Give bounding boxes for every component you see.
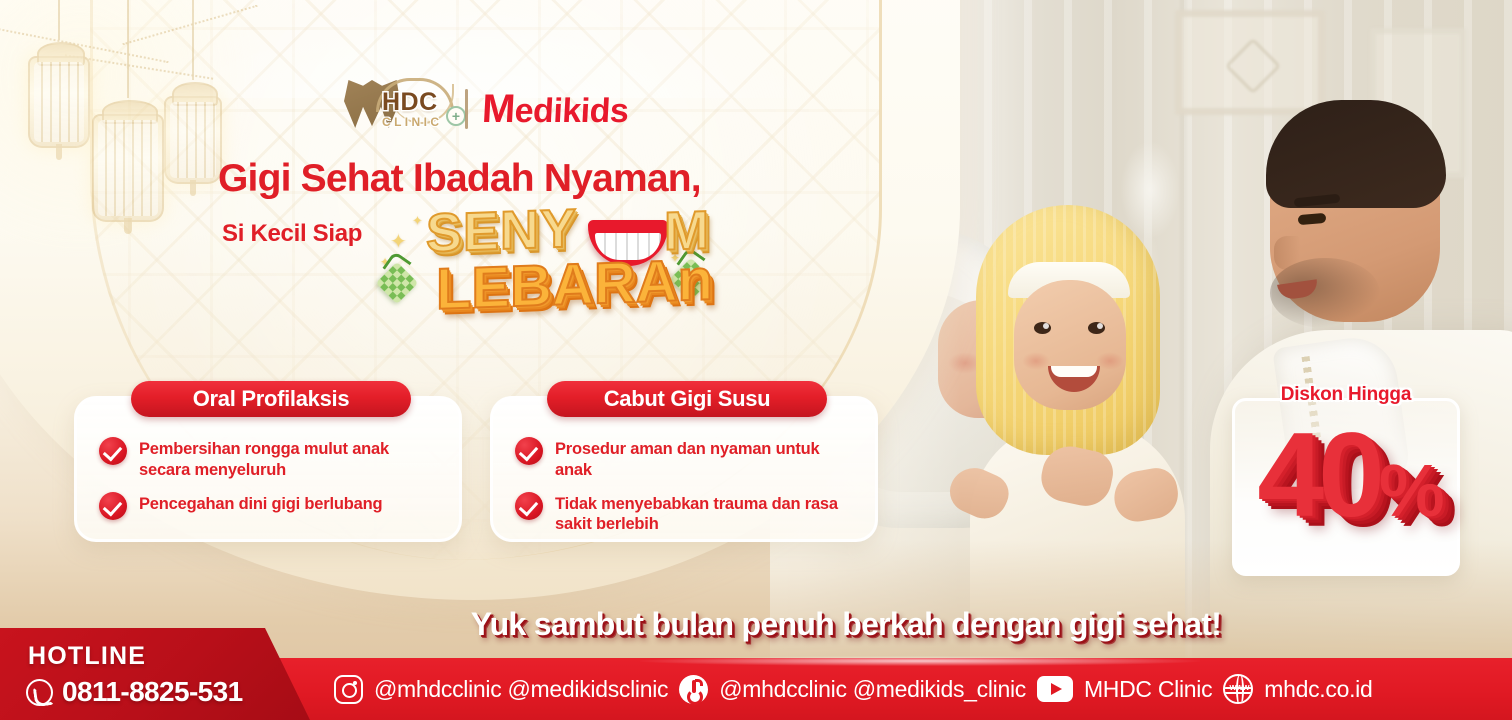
discount-label: Diskon Hingga [1235, 385, 1457, 404]
page-title: Gigi Sehat Ibadah Nyaman, [218, 158, 701, 201]
tiktok-icon[interactable] [679, 675, 708, 704]
lantern-stem [58, 0, 60, 40]
mhdc-clinic-logo: HDC CLINIC + [338, 78, 451, 140]
star-icon: ✦ [390, 232, 407, 252]
globe-icon[interactable]: www [1223, 674, 1253, 704]
girl-cheek-right [1096, 352, 1124, 370]
girl-cheek-left [1022, 352, 1050, 370]
list-item-label: Prosedur aman dan nyaman untuk anak [555, 437, 857, 481]
ketupat-icon [376, 262, 418, 304]
promo-banner: HDC CLINIC + Medikids Gigi Sehat Ibadah … [0, 0, 1512, 720]
check-circle-icon [99, 437, 127, 465]
page-subtitle: Si Kecil Siap [222, 222, 362, 246]
medikids-initial: M [480, 87, 515, 131]
father-nose [1274, 236, 1300, 270]
discount-value: 40% [1217, 415, 1483, 535]
service-card-cabut-gigi-susu: Cabut Gigi Susu Prosedur aman dan nyaman… [490, 396, 878, 542]
mhdc-sub-wordmark: CLINIC [382, 116, 442, 128]
lantern-icon [164, 96, 222, 184]
hotline-number-label: 0811-8825-531 [62, 678, 243, 706]
girl-eye-left [1034, 322, 1051, 334]
globe-www-label: www [1228, 683, 1250, 692]
mhdc-wordmark: HDC [382, 90, 438, 115]
lantern-stem [192, 0, 194, 80]
phone-in-circle-icon [26, 679, 53, 706]
card-title-badge: Cabut Gigi Susu [547, 381, 827, 417]
check-circle-icon [515, 492, 543, 520]
check-circle-icon [515, 437, 543, 465]
list-item: Prosedur aman dan nyaman untuk anak [515, 437, 857, 481]
medical-plus-icon: + [446, 106, 466, 126]
hotline-label: HOTLINE [28, 644, 146, 669]
card-title-badge: Oral Profilaksis [131, 381, 411, 417]
hotline-number[interactable]: 0811-8825-531 [26, 678, 243, 706]
website-url[interactable]: mhdc.co.id [1264, 678, 1372, 701]
lantern-icon [92, 114, 164, 222]
instagram-icon[interactable] [334, 675, 363, 704]
list-item: Tidak menyebabkan trauma dan rasa sakit … [515, 492, 857, 536]
list-item: Pembersihan rongga mulut anak secara men… [99, 437, 441, 481]
hotline-panel: HOTLINE 0811-8825-531 [0, 628, 310, 720]
wall-picture-frame [1175, 10, 1325, 115]
percent-sign: % [1379, 449, 1443, 532]
service-card-oral-profilaksis: Oral Profilaksis Pembersihan rongga mulu… [74, 396, 462, 542]
list-item-label: Tidak menyebabkan trauma dan rasa sakit … [555, 492, 857, 536]
tiktok-handles[interactable]: @mhdcclinic @medikids_clinic [719, 678, 1026, 701]
card-bullet-list: Pembersihan rongga mulut anak secara men… [99, 437, 441, 520]
card-bullet-list: Prosedur aman dan nyaman untuk anak Tida… [515, 437, 857, 535]
list-item-label: Pencegahan dini gigi berlubang [139, 492, 382, 515]
girl-eye-right [1088, 322, 1105, 334]
list-item: Pencegahan dini gigi berlubang [99, 492, 441, 520]
discount-badge: Diskon Hingga 40% [1232, 398, 1460, 576]
wordmark-line-bottom: LEBARAn [436, 251, 713, 319]
logo-divider [465, 89, 468, 129]
social-links: @mhdcclinic @medikidsclinic @mhdcclinic … [334, 658, 1512, 720]
medikids-wordmark: edikids [513, 92, 629, 130]
list-item-label: Pembersihan rongga mulut anak secara men… [139, 437, 441, 481]
hanging-lanterns [0, 0, 230, 250]
youtube-icon[interactable] [1037, 676, 1073, 702]
discount-number: 40 [1257, 408, 1378, 542]
check-circle-icon [99, 492, 127, 520]
lantern-icon [28, 56, 90, 148]
instagram-handles[interactable]: @mhdcclinic @medikidsclinic [374, 678, 668, 701]
senyum-lebaran-wordmark: ✦ ✦ ✦ ✦ ✦ SENY M LEBARAn [378, 198, 708, 328]
medikids-logo: Medikids [480, 89, 629, 129]
lantern-stem [127, 0, 129, 98]
star-icon: ✦ [412, 214, 423, 227]
logo-row: HDC CLINIC + Medikids [338, 78, 628, 140]
youtube-channel[interactable]: MHDC Clinic [1084, 678, 1212, 701]
